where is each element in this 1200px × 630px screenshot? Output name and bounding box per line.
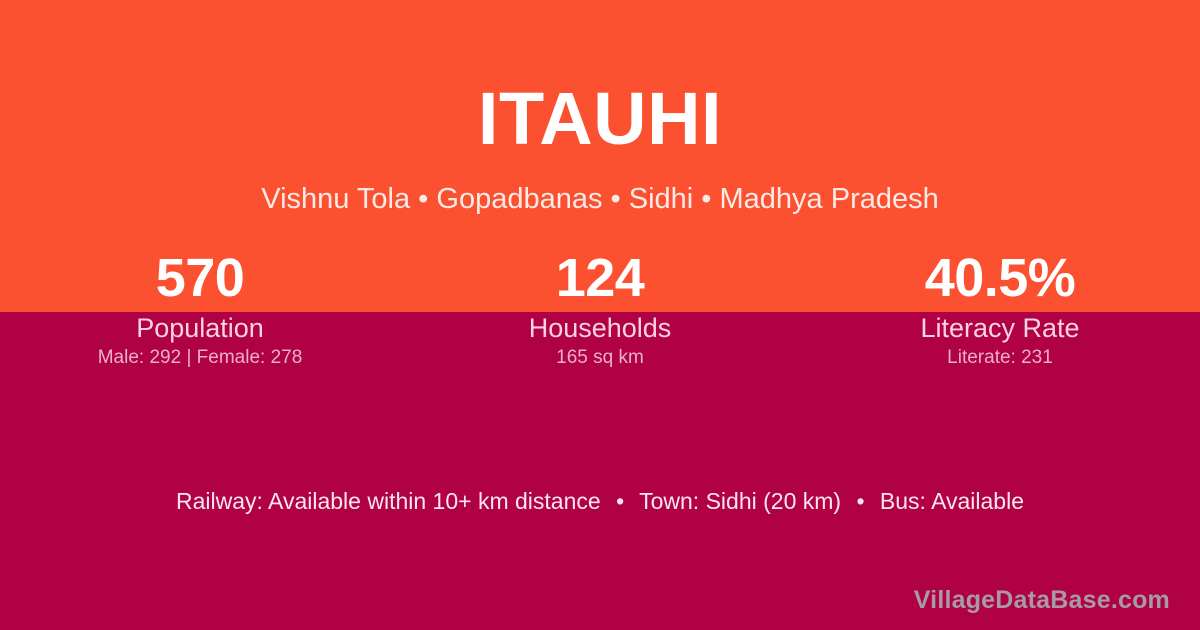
stat-literacy-rate: 40.5% Literacy Rate Literate: 231 [800, 245, 1200, 371]
stat-value: 124 [400, 245, 800, 311]
stat-detail: 165 sq km [400, 345, 800, 371]
infra-railway: Railway: Available within 10+ km distanc… [176, 488, 601, 514]
village-info-card: ITAUHI Vishnu Tola • Gopadbanas • Sidhi … [0, 0, 1200, 630]
stat-label: Population [0, 311, 400, 345]
statistics-row: 570 Population Male: 292 | Female: 278 1… [0, 245, 1200, 371]
infrastructure-summary: Railway: Available within 10+ km distanc… [0, 486, 1200, 516]
stat-population: 570 Population Male: 292 | Female: 278 [0, 245, 400, 371]
stat-detail: Male: 292 | Female: 278 [0, 345, 400, 371]
infra-bus: Bus: Available [880, 488, 1024, 514]
stat-label: Households [400, 311, 800, 345]
stat-value: 570 [0, 245, 400, 311]
stat-households: 124 Households 165 sq km [400, 245, 800, 371]
infra-separator-icon: • [847, 486, 873, 516]
stat-detail: Literate: 231 [800, 345, 1200, 371]
stat-label: Literacy Rate [800, 311, 1200, 345]
infra-town: Town: Sidhi (20 km) [639, 488, 841, 514]
stat-value: 40.5% [800, 245, 1200, 311]
page-title: ITAUHI [0, 82, 1200, 156]
location-breadcrumb: Vishnu Tola • Gopadbanas • Sidhi • Madhy… [0, 182, 1200, 217]
infra-separator-icon: • [607, 486, 633, 516]
site-watermark: VillageDataBase.com [914, 584, 1170, 616]
